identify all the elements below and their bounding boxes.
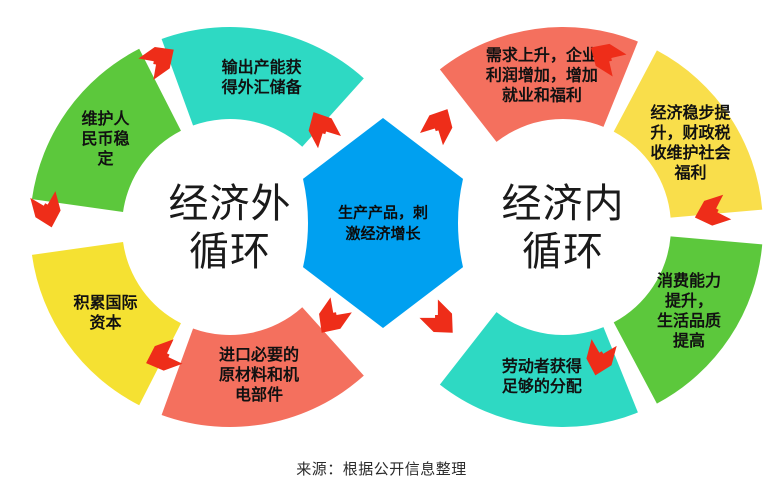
- hub-title-inner-cycle: 经济内循环: [502, 182, 625, 274]
- arrow-demand-to-center-icon: [419, 299, 461, 341]
- segment-label-demand-profit-jobs: 需求上升，企业利润增加，增加就业和福利: [486, 46, 598, 105]
- segment-label-line: 消费能力: [657, 271, 721, 290]
- center-node-label-line: 激经济增长: [345, 225, 421, 243]
- diagram-canvas: 积累国际资本进口必要的原材料和机电部件输出产能获得外汇储备维护人民币稳定劳动者获…: [0, 0, 763, 500]
- economic-cycle-diagram: 积累国际资本进口必要的原材料和机电部件输出产能获得外汇储备维护人民币稳定劳动者获…: [0, 0, 763, 500]
- segment-label-line: 利润增加，增加: [486, 66, 598, 85]
- segment-label-line: 原材料和机: [219, 365, 299, 384]
- segment-label-line: 资本: [89, 313, 121, 332]
- segment-label-line: 足够的分配: [502, 377, 582, 396]
- segment-consumption-ability-up[interactable]: 消费能力提升，生活品质提高: [614, 236, 763, 403]
- hub-title-line: 循环: [189, 230, 271, 274]
- center-node-layer: 生产产品，刺激经济增长: [303, 118, 463, 328]
- center-hexagon-shape: [303, 118, 463, 328]
- segment-label-line: 维护人: [81, 109, 130, 128]
- segment-label-line: 福利: [673, 163, 706, 182]
- hub-title-line: 循环: [522, 230, 604, 274]
- arrow-center-to-workers-icon: [420, 103, 459, 145]
- segment-label-line: 输出产能获: [222, 58, 302, 77]
- source-caption: 来源：根据公开信息整理: [0, 458, 763, 479]
- segment-workers-get-distribution[interactable]: 劳动者获得足够的分配: [440, 312, 638, 427]
- center-node-label-line: 生产产品，刺: [338, 204, 428, 222]
- segment-label-line: 电部件: [235, 385, 283, 404]
- segment-label-line: 生活品质: [657, 311, 721, 330]
- segment-accumulate-capital[interactable]: 积累国际资本: [32, 242, 181, 405]
- segment-label-line: 经济稳步提: [650, 103, 731, 122]
- segment-label-line: 进口必要的: [219, 345, 299, 364]
- segment-label-line: 升，财政税: [650, 123, 730, 142]
- segment-label-line: 劳动者获得: [502, 357, 582, 376]
- segment-label-line: 收维护社会: [650, 143, 730, 162]
- center-node[interactable]: 生产产品，刺激经济增长: [303, 118, 463, 328]
- segment-label-line: 就业和福利: [502, 86, 582, 105]
- segment-label-line: 需求上升，企业: [486, 46, 598, 65]
- segment-label-line: 提高: [673, 331, 705, 350]
- segment-label-line: 民币稳: [81, 129, 129, 148]
- segment-economy-steady-tax-welfare[interactable]: 经济稳步提升，财政税收维护社会福利: [614, 50, 763, 217]
- segment-label-line: 定: [96, 149, 113, 168]
- segment-label-line: 积累国际: [73, 294, 137, 312]
- hub-title-line: 经济内: [502, 182, 625, 226]
- segment-label-line: 得外汇储备: [221, 78, 303, 97]
- hub-title-line: 经济外: [169, 182, 292, 226]
- segment-label-line: 提升，: [665, 292, 713, 310]
- hub-title-outer-cycle: 经济外循环: [169, 182, 292, 274]
